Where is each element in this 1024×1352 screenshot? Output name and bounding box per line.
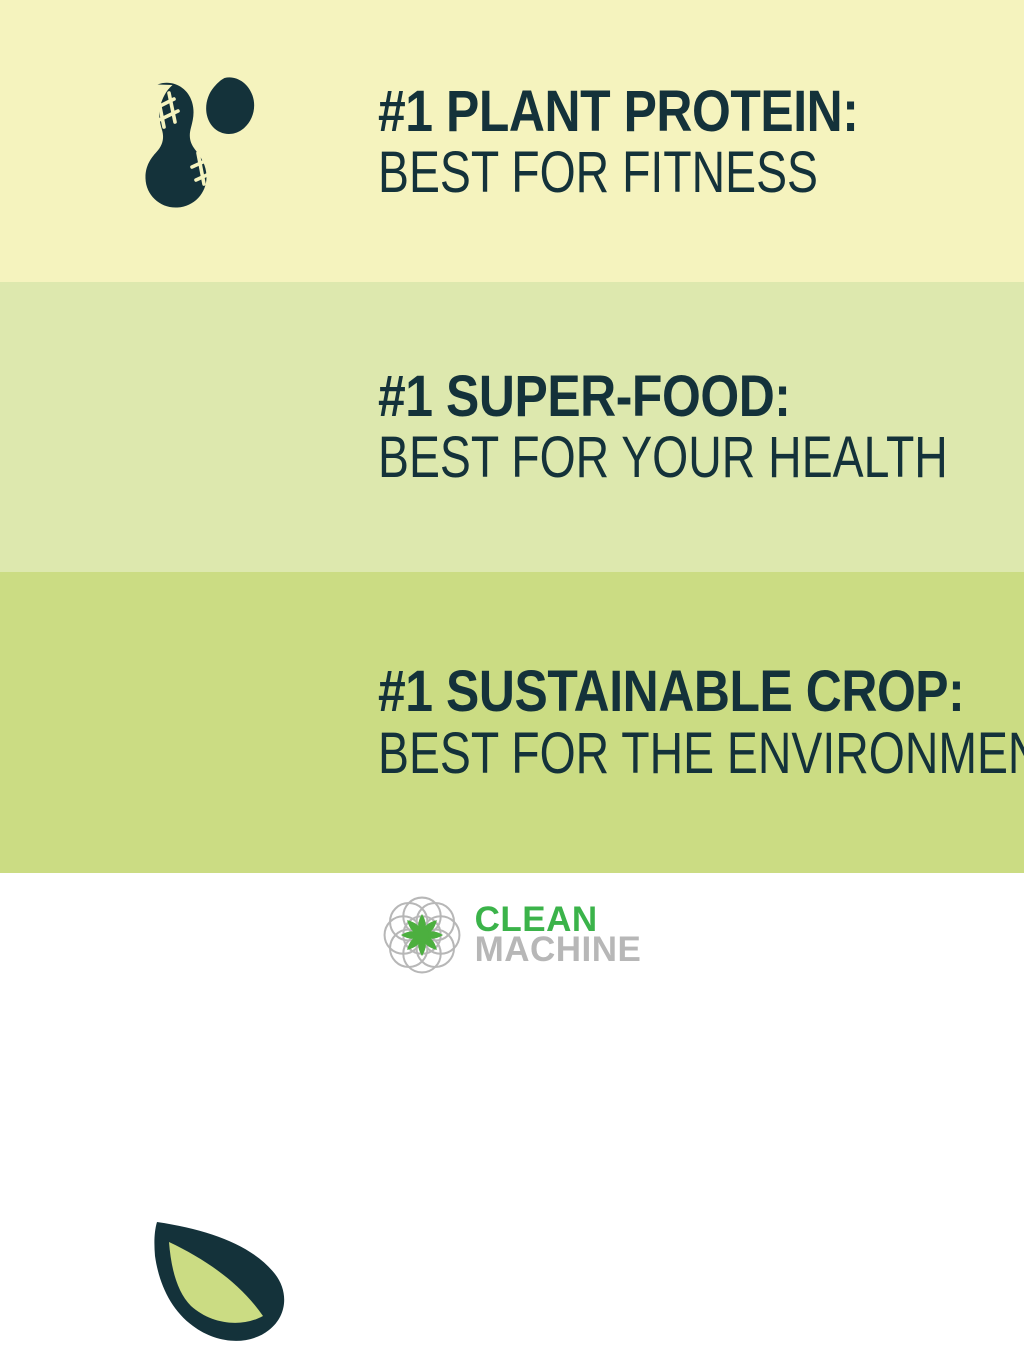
footer: CLEAN MACHINE <box>0 873 1024 993</box>
clean-machine-rosette-logo-icon <box>383 896 461 974</box>
benefit-band-sustainable-crop: #1 SUSTAINABLE CROP: BEST FOR THE ENVIRO… <box>0 572 1024 873</box>
band-headline: #1 SUPER-FOOD: <box>378 369 991 425</box>
peanut-icon <box>112 72 272 212</box>
band-subline: BEST FOR THE ENVIRONMENT <box>378 724 1024 783</box>
band-headline: #1 PLANT PROTEIN: <box>378 84 913 140</box>
brand-wordmark: CLEAN MACHINE <box>475 905 642 965</box>
band-subline: BEST FOR FITNESS <box>378 143 876 202</box>
brand-logo: CLEAN MACHINE <box>383 896 642 974</box>
band-subline: BEST FOR YOUR HEALTH <box>378 428 948 487</box>
infographic-root: #1 PLANT PROTEIN: BEST FOR FITNESS <box>0 0 1024 993</box>
icon-slot-super-food <box>0 282 378 572</box>
leaf-icon <box>145 1212 297 1352</box>
brand-word-machine: MACHINE <box>475 935 642 965</box>
icon-slot-plant-protein <box>0 0 378 282</box>
icon-slot-sustainable-crop <box>0 572 378 873</box>
text-slot-super-food: #1 SUPER-FOOD: BEST FOR YOUR HEALTH <box>378 367 1024 488</box>
text-slot-plant-protein: #1 PLANT PROTEIN: BEST FOR FITNESS <box>378 80 1024 203</box>
benefit-band-super-food: #1 SUPER-FOOD: BEST FOR YOUR HEALTH <box>0 282 1024 572</box>
band-headline: #1 SUSTAINABLE CROP: <box>378 664 1024 720</box>
benefit-band-plant-protein: #1 PLANT PROTEIN: BEST FOR FITNESS <box>0 0 1024 282</box>
text-slot-sustainable-crop: #1 SUSTAINABLE CROP: BEST FOR THE ENVIRO… <box>378 662 1024 783</box>
